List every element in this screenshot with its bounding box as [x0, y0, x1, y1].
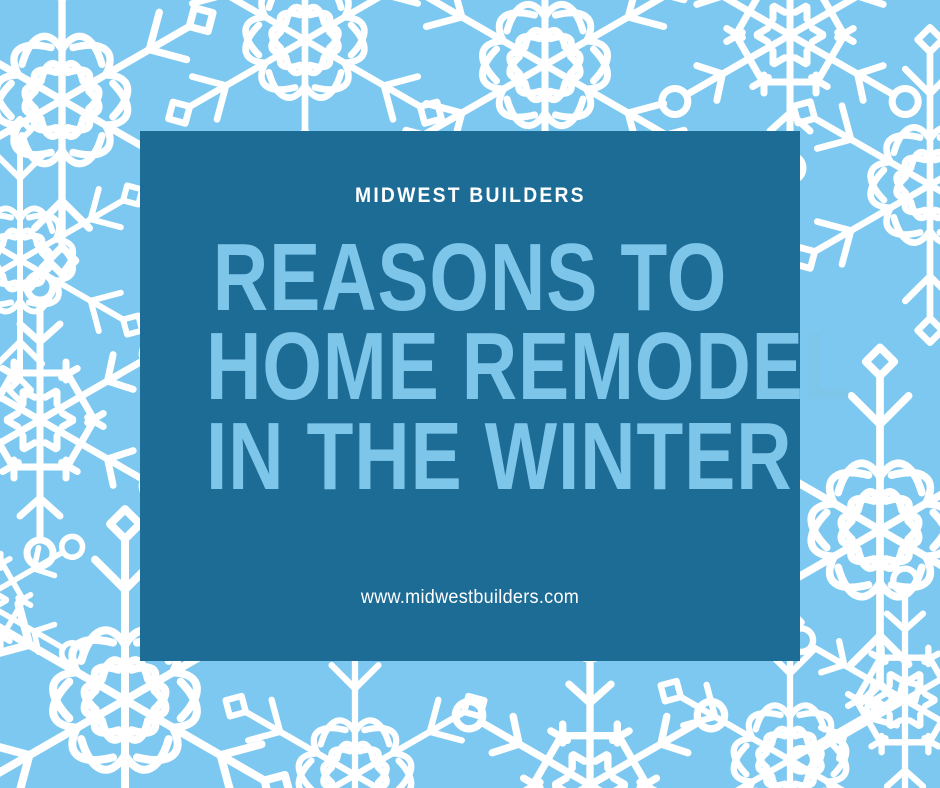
- poster-canvas: MIDWEST BUILDERS REASONS TO HOME REMODEL…: [0, 0, 940, 788]
- snowflake-star-icon: [775, 27, 940, 342]
- headline-line-3: IN THE WINTER: [206, 412, 734, 501]
- headline-line-2: HOME REMODEL: [206, 322, 734, 411]
- snowflake-radial-icon: [0, 483, 92, 717]
- content-panel: MIDWEST BUILDERS REASONS TO HOME REMODEL…: [140, 131, 800, 661]
- headline-line-1: REASONS TO: [206, 233, 734, 322]
- website-url: www.midwestbuilders.com: [157, 587, 784, 609]
- snowflake-radial-icon: [780, 569, 940, 788]
- brand-name: MIDWEST BUILDERS: [355, 184, 586, 208]
- snowflake-star-icon: [0, 119, 158, 401]
- page-title: REASONS TO HOME REMODEL IN THE WINTER: [140, 233, 800, 501]
